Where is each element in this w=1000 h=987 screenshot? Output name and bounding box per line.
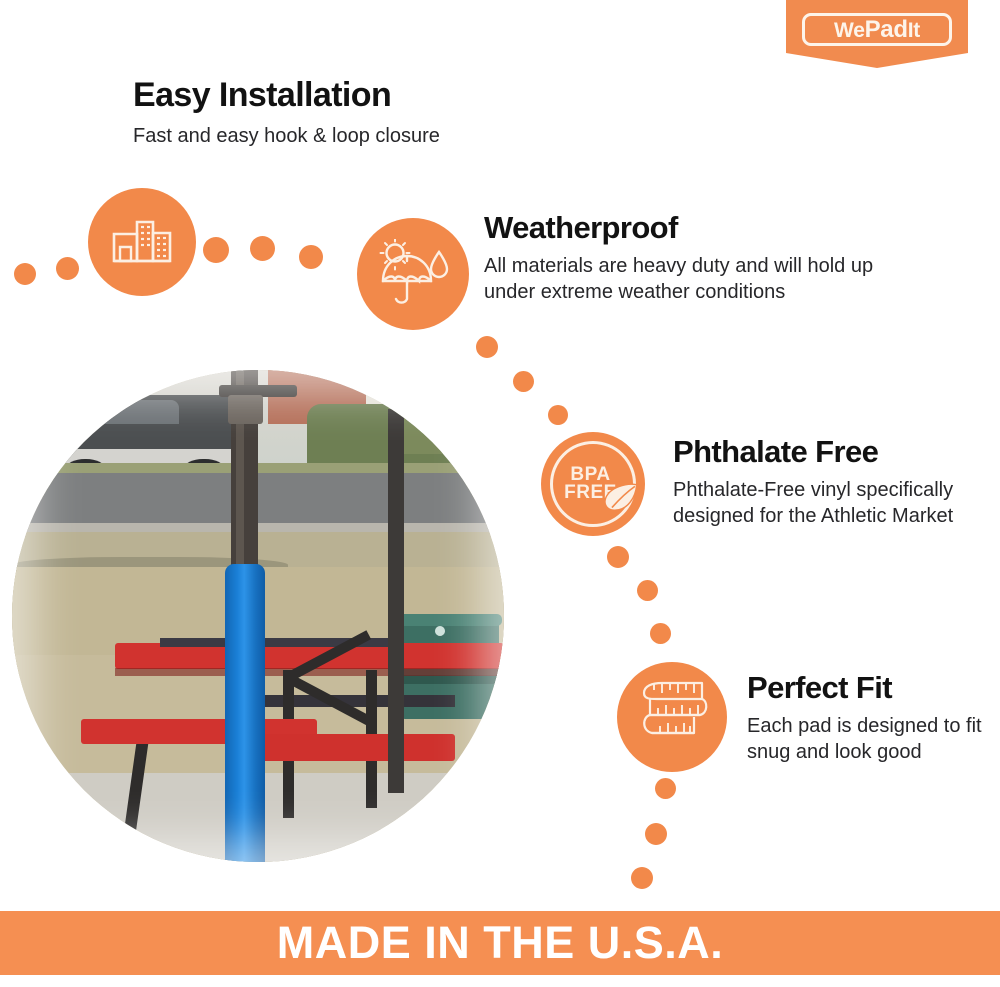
feature-title: Easy Installation: [133, 78, 563, 114]
trail-dot: [250, 236, 275, 261]
logo-wordmark: WePadIt: [834, 18, 920, 42]
footer-text: MADE IN THE U.S.A.: [277, 917, 724, 969]
umbrella-sun-raindrop-icon: [357, 218, 469, 330]
trail-dot: [56, 257, 79, 280]
feature-title: Perfect Fit: [747, 672, 992, 705]
feature-description: Fast and easy hook & loop closure: [133, 123, 563, 150]
photo-vignette: [12, 370, 504, 862]
trail-dot: [607, 546, 629, 568]
feature-block-phthalate-free: Phthalate Free Phthalate-Free vinyl spec…: [673, 436, 973, 530]
made-in-usa-banner: MADE IN THE U.S.A.: [0, 911, 1000, 975]
trail-dot: [645, 823, 667, 845]
feature-description: Phthalate-Free vinyl specifically design…: [673, 477, 973, 531]
trail-dot: [513, 371, 534, 392]
building-icon: [88, 188, 196, 296]
trail-dot: [203, 237, 229, 263]
brand-logo: WePadIt: [786, 0, 968, 68]
feature-block-weatherproof: Weatherproof All materials are heavy dut…: [484, 212, 914, 306]
logo-outline-box: WePadIt: [802, 13, 952, 46]
logo-text-we: We: [834, 19, 865, 42]
infographic-page: WePadIt Easy Installation Fast and easy …: [0, 0, 1000, 987]
feature-description: All materials are heavy duty and will ho…: [484, 253, 914, 307]
logo-text-pad: Pad: [865, 16, 908, 43]
trail-dot: [548, 405, 568, 425]
trail-dot: [476, 336, 498, 358]
trail-dot: [631, 867, 653, 889]
feature-title: Phthalate Free: [673, 436, 973, 469]
feature-block-easy-installation: Easy Installation Fast and easy hook & l…: [133, 78, 563, 149]
measuring-tape-icon: [617, 662, 727, 772]
logo-text-it: It: [908, 19, 920, 42]
trail-dot: [299, 245, 323, 269]
trail-dot: [637, 580, 658, 601]
product-photo: [12, 370, 504, 862]
feature-title: Weatherproof: [484, 212, 914, 245]
trail-dot: [14, 263, 36, 285]
bpa-free-leaf-icon: BPA FREE: [541, 432, 645, 536]
feature-block-perfect-fit: Perfect Fit Each pad is designed to fit …: [747, 672, 992, 766]
trail-dot: [655, 778, 676, 799]
trail-dot: [650, 623, 671, 644]
feature-description: Each pad is designed to fit snug and loo…: [747, 713, 992, 767]
leaf-icon: [599, 482, 639, 512]
